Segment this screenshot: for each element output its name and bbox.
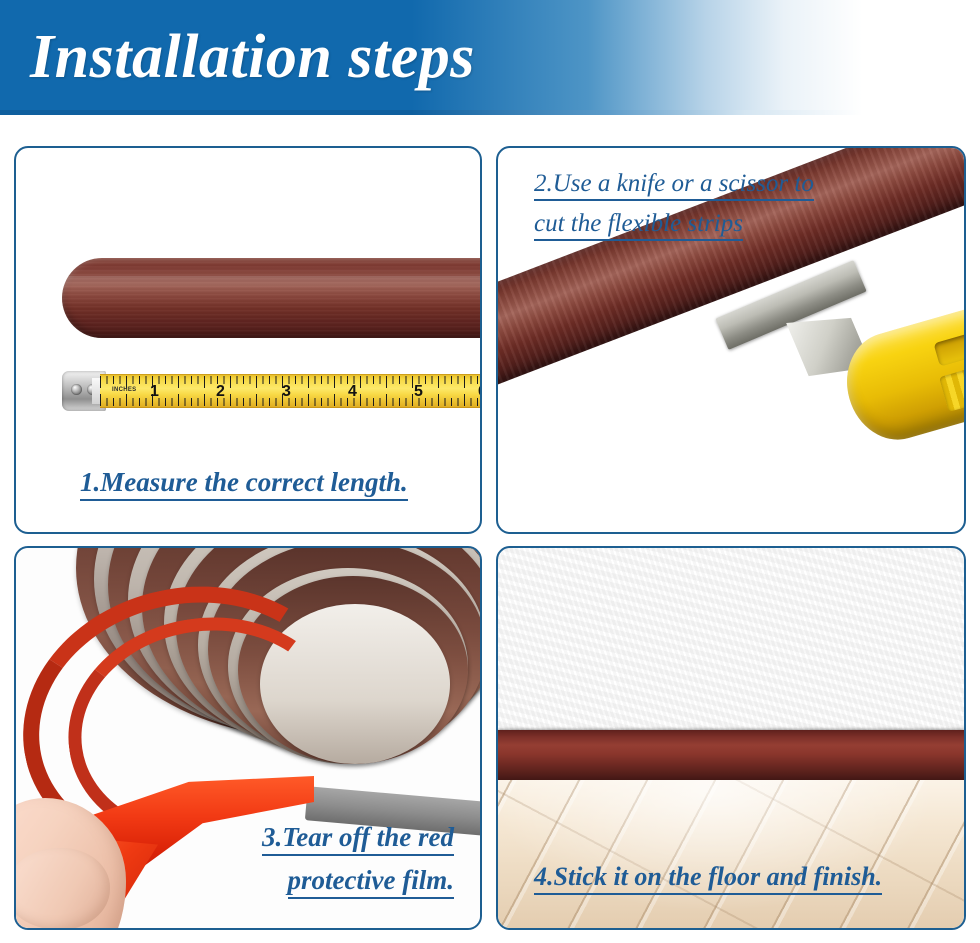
step-2-illustration: 2.Use a knife or a scissor to cut the fl… xyxy=(498,148,964,532)
wall-image xyxy=(498,548,964,730)
tape-mark-2: 2 xyxy=(216,384,225,400)
header-banner: Installation steps xyxy=(0,0,980,115)
tape-mark-4: 4 xyxy=(348,384,357,400)
step-2-caption-line-2: cut the flexible strips xyxy=(534,210,743,241)
step-3-caption-line-2: protective film. xyxy=(288,865,454,899)
wall-texture xyxy=(498,548,964,730)
page-title: Installation steps xyxy=(30,22,475,92)
tape-mark-6: 6 xyxy=(478,384,480,400)
tape-unit-label: INCHES xyxy=(112,387,136,393)
step-4-caption-line-1: 4.Stick it on the floor and finish. xyxy=(534,862,882,895)
step-1-caption: 1.Measure the correct length. xyxy=(80,467,408,510)
tape-blade: INCHES 1 2 3 4 5 6 xyxy=(100,374,480,408)
step-1-caption-line-1: 1.Measure the correct length. xyxy=(80,467,408,501)
molding-strip-image xyxy=(62,258,480,338)
tape-mark-3: 3 xyxy=(282,384,291,400)
step-1-illustration: INCHES 1 2 3 4 5 6 1.Measure the correct… xyxy=(16,148,480,532)
tape-mark-1: 1 xyxy=(150,384,159,400)
tape-measure-image: INCHES 1 2 3 4 5 6 xyxy=(62,374,480,408)
step-4-illustration: 4.Stick it on the floor and finish. xyxy=(498,548,964,928)
installation-steps-infographic: Installation steps xyxy=(0,0,980,943)
steps-grid: INCHES 1 2 3 4 5 6 1.Measure the correct… xyxy=(14,146,966,930)
knife-handle-slot xyxy=(933,323,964,366)
wood-floor-image xyxy=(498,780,964,928)
wood-grain-texture xyxy=(62,258,480,338)
step-2-caption: 2.Use a knife or a scissor to cut the fl… xyxy=(534,170,814,250)
step-4-caption: 4.Stick it on the floor and finish. xyxy=(534,862,882,904)
step-panel-2: 2.Use a knife or a scissor to cut the fl… xyxy=(496,146,966,534)
floor-light-sheen xyxy=(498,780,964,928)
step-3-caption-line-1: 3.Tear off the red xyxy=(262,822,454,856)
knife-handle xyxy=(835,297,964,450)
installed-baseboard-strip xyxy=(498,730,964,779)
header-underline xyxy=(0,110,980,115)
step-3-caption: 3.Tear off the red protective film. xyxy=(262,822,454,908)
step-panel-3: 3.Tear off the red protective film. xyxy=(14,546,482,930)
thumb-image xyxy=(16,848,110,928)
step-panel-1: INCHES 1 2 3 4 5 6 1.Measure the correct… xyxy=(14,146,482,534)
tape-hook-hole-left xyxy=(71,384,82,395)
step-panel-4: 4.Stick it on the floor and finish. xyxy=(496,546,966,930)
step-3-illustration: 3.Tear off the red protective film. xyxy=(16,548,480,928)
step-2-caption-line-1: 2.Use a knife or a scissor to xyxy=(534,170,814,201)
tape-mark-5: 5 xyxy=(414,384,423,400)
